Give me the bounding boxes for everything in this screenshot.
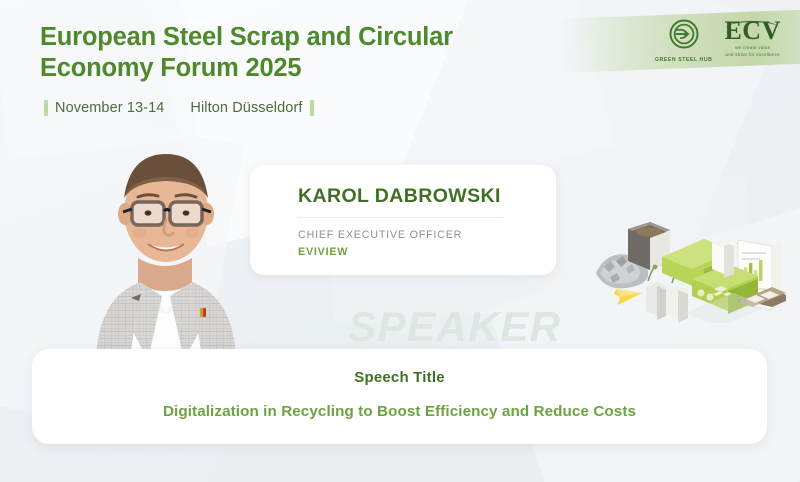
poster-canvas: European Steel Scrap and Circular Econom…: [0, 0, 800, 482]
logo-group: GREEN STEEL HUB ECV we create value and …: [655, 19, 781, 63]
event-header: European Steel Scrap and Circular Econom…: [40, 22, 570, 116]
ecv-tagline-line-1: we create value: [735, 45, 770, 52]
speaker-info-card: KAROL DABROWSKI CHIEF EXECUTIVE OFFICER …: [250, 165, 556, 275]
accent-bar-icon: [310, 100, 314, 116]
event-title-line-2: Economy Forum 2025: [40, 53, 570, 84]
green-steel-hub-logo: GREEN STEEL HUB: [655, 19, 712, 63]
green-steel-hub-circular-arrow-icon: [669, 19, 699, 54]
event-title-line-1: European Steel Scrap and Circular: [40, 22, 570, 53]
speech-title-label: Speech Title: [354, 369, 445, 386]
ecv-tagline-line-2: and strive for excellence: [725, 52, 780, 59]
speaker-role: CHIEF EXECUTIVE OFFICER: [298, 227, 556, 244]
speaker-name: KAROL DABROWSKI: [298, 185, 556, 208]
event-date: November 13-14: [55, 100, 164, 116]
isometric-recycling-plant-illustration: [588, 205, 794, 323]
speech-title-card: Speech Title Digitalization in Recycling…: [32, 349, 767, 444]
ecv-wordmark: ECV: [724, 19, 780, 44]
speaker-watermark: SPEAKER: [348, 303, 562, 351]
event-title: European Steel Scrap and Circular Econom…: [40, 22, 570, 85]
event-venue: Hilton Düsseldorf: [190, 100, 302, 116]
yellow-arrow-icon: [614, 289, 642, 305]
accent-bar-icon: [44, 100, 48, 116]
speaker-divider: [298, 217, 503, 218]
event-meta: November 13-14 Hilton Düsseldorf: [44, 100, 570, 116]
ecv-logo: ECV we create value and strive for excel…: [724, 19, 780, 59]
green-steel-hub-label: GREEN STEEL HUB: [655, 57, 712, 63]
speaker-portrait: [52, 132, 280, 360]
speaker-organization: EVIVIEW: [298, 244, 556, 261]
speech-title-text: Digitalization in Recycling to Boost Eff…: [163, 403, 636, 420]
